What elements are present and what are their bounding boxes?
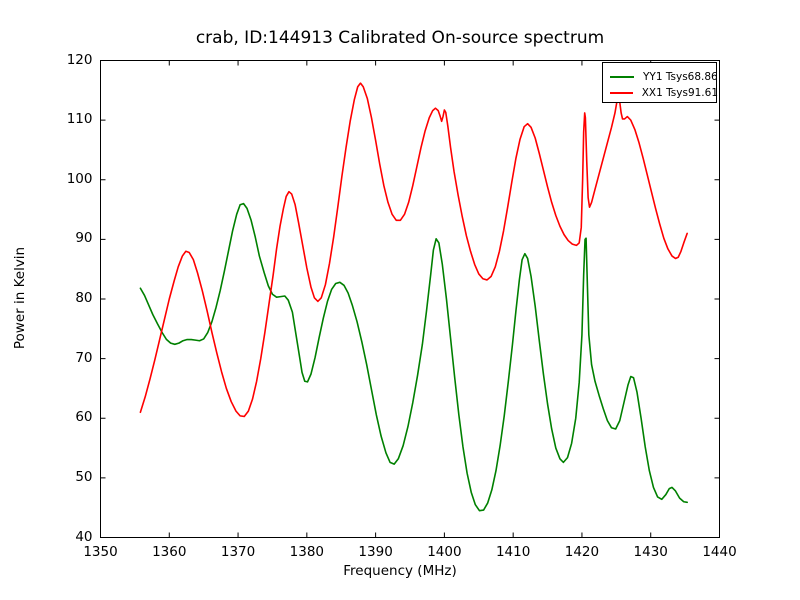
y-tick-label-40: 40: [45, 529, 93, 545]
series-line-0: [140, 204, 687, 511]
x-tick-label-1390: 1390: [346, 544, 406, 560]
x-tick-label-1370: 1370: [208, 544, 268, 560]
y-tick-label-100: 100: [45, 171, 93, 187]
x-tick-label-1420: 1420: [552, 544, 612, 560]
y-tick-label-90: 90: [45, 230, 93, 246]
legend-label-0: YY1 Tsys68.86: [643, 71, 718, 83]
y-tick-label-120: 120: [45, 52, 93, 68]
x-tick-label-1430: 1430: [621, 544, 681, 560]
legend-item-1: XX1 Tsys91.61: [603, 84, 718, 102]
series-line-1: [140, 83, 687, 416]
y-axis-label-wrap: Power in Kelvin: [0, 0, 40, 600]
chart-figure: crab, ID:144913 Calibrated On-source spe…: [0, 0, 800, 600]
y-tick-label-80: 80: [45, 290, 93, 306]
x-tick-label-1440: 1440: [690, 544, 750, 560]
series-layer: [140, 83, 687, 511]
y-tick-label-60: 60: [45, 409, 93, 425]
x-tick-label-1380: 1380: [277, 544, 337, 560]
x-tick-label-1410: 1410: [483, 544, 543, 560]
legend-label-1: XX1 Tsys91.61: [642, 87, 718, 99]
y-tick-label-70: 70: [45, 350, 93, 366]
x-axis-label: Frequency (MHz): [0, 563, 800, 579]
legend: YY1 Tsys68.86XX1 Tsys91.61: [602, 62, 717, 103]
y-tick-label-110: 110: [45, 111, 93, 127]
x-tick-label-1350: 1350: [71, 544, 131, 560]
y-tick-label-50: 50: [45, 469, 93, 485]
legend-swatch-icon-1: [610, 92, 633, 94]
tick-marks: [101, 61, 720, 538]
x-tick-label-1400: 1400: [414, 544, 474, 560]
y-axis-label: Power in Kelvin: [12, 218, 28, 378]
axes-frame: [101, 61, 720, 538]
legend-swatch-icon-0: [610, 76, 634, 78]
x-tick-label-1360: 1360: [139, 544, 199, 560]
